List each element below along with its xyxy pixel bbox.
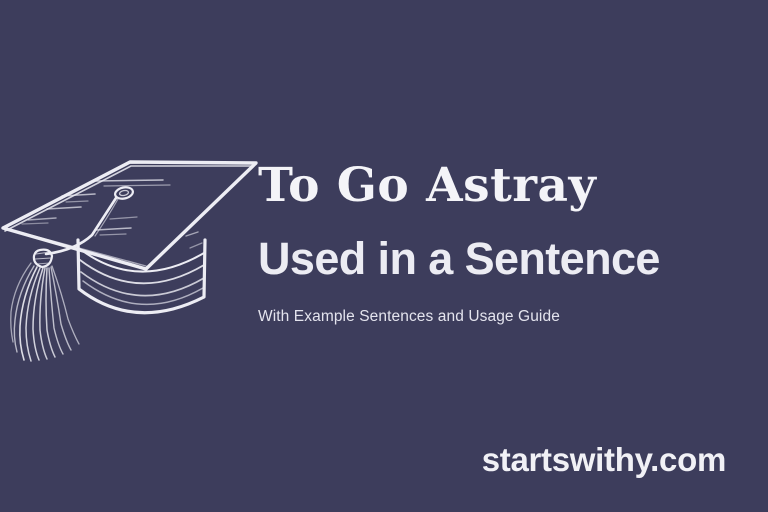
headline-subject: Used in a Sentence xyxy=(258,232,758,286)
graduation-cap-icon xyxy=(0,136,268,372)
headline-tagline: With Example Sentences and Usage Guide xyxy=(258,306,758,328)
headline-block: To Go Astray Used in a Sentence With Exa… xyxy=(258,158,758,328)
brand-domain: startswithy.com xyxy=(482,441,726,479)
headline-phrase: To Go Astray xyxy=(258,158,758,214)
banner-canvas: To Go Astray Used in a Sentence With Exa… xyxy=(0,0,768,512)
